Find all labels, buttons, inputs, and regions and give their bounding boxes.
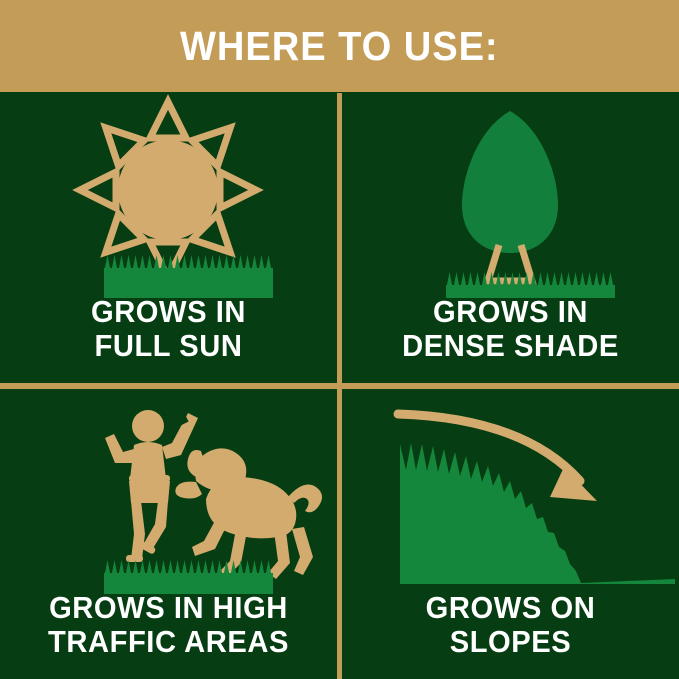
caption-line: TRAFFIC AREAS bbox=[10, 625, 327, 659]
icon-area-high-traffic bbox=[0, 389, 337, 594]
tree-icon bbox=[342, 93, 679, 298]
sun-icon bbox=[0, 93, 337, 298]
slope-arrow-icon bbox=[342, 389, 679, 594]
grass-strip-icon bbox=[104, 560, 273, 594]
caption-high-traffic: GROWS IN HIGH TRAFFIC AREAS bbox=[10, 591, 327, 659]
caption-slopes: GROWS ON SLOPES bbox=[352, 591, 669, 659]
panel-slopes: GROWS ON SLOPES bbox=[342, 389, 679, 679]
caption-full-sun: GROWS IN FULL SUN bbox=[10, 295, 327, 363]
page-title: WHERE TO USE: bbox=[180, 26, 499, 67]
caption-line: GROWS IN HIGH bbox=[10, 591, 327, 625]
caption-line: GROWS IN bbox=[10, 295, 327, 329]
grid-divider-horizontal bbox=[0, 383, 679, 389]
icon-area-full-sun bbox=[0, 93, 337, 298]
panel-high-traffic: GROWS IN HIGH TRAFFIC AREAS bbox=[0, 389, 337, 679]
icon-area-dense-shade bbox=[342, 93, 679, 298]
header-band: WHERE TO USE: bbox=[0, 0, 679, 92]
person-and-dog-icon bbox=[0, 389, 337, 594]
caption-line: FULL SUN bbox=[10, 329, 327, 363]
caption-line: GROWS IN bbox=[352, 295, 669, 329]
grass-strip-icon bbox=[104, 255, 273, 298]
caption-line: DENSE SHADE bbox=[352, 329, 669, 363]
where-to-use-infographic: WHERE TO USE: bbox=[0, 0, 679, 679]
panel-dense-shade: GROWS IN DENSE SHADE bbox=[342, 93, 679, 383]
panel-grid: GROWS IN FULL SUN G bbox=[0, 93, 679, 679]
panel-full-sun: GROWS IN FULL SUN bbox=[0, 93, 337, 383]
caption-line: GROWS ON bbox=[352, 591, 669, 625]
icon-area-slopes bbox=[342, 389, 679, 594]
caption-line: SLOPES bbox=[352, 625, 669, 659]
caption-dense-shade: GROWS IN DENSE SHADE bbox=[352, 295, 669, 363]
